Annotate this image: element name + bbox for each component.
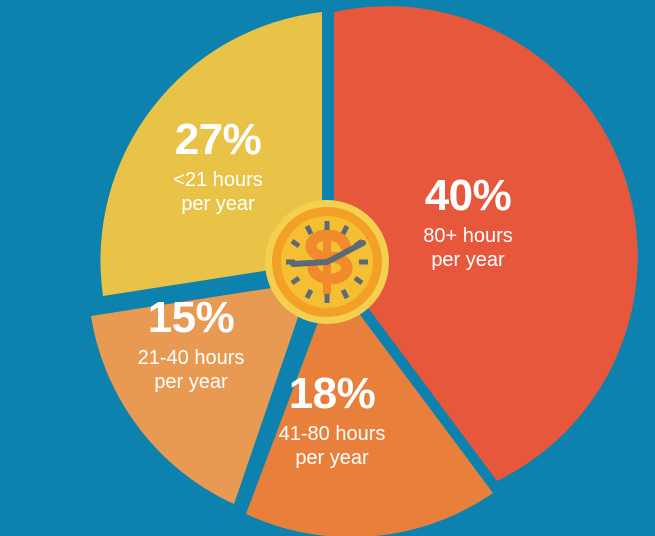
- pie-chart: [0, 0, 655, 536]
- clock-minute-hand: [293, 262, 327, 264]
- clock-money-icon: [265, 200, 389, 324]
- infographic-canvas: 40% 80+ hours per year 27% <21 hours per…: [0, 0, 655, 536]
